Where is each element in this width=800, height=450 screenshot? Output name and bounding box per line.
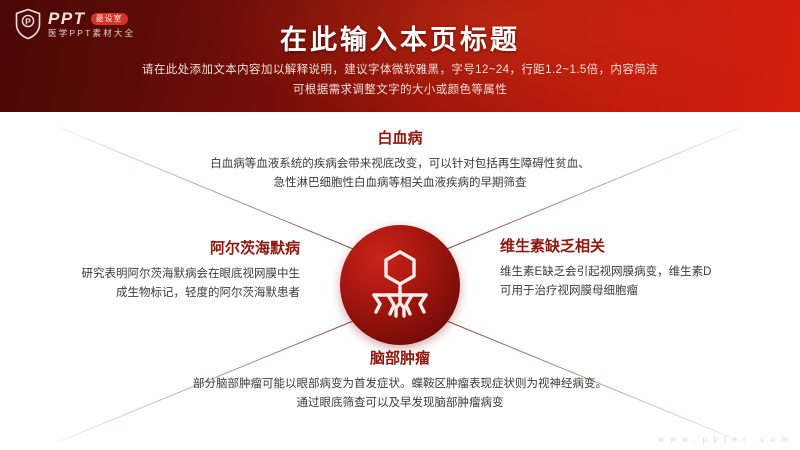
center-hub[interactable]	[340, 225, 460, 345]
node-right-body-line2: 可用于治疗视网膜母细胞瘤	[500, 282, 780, 301]
node-bottom-body-line1: 部分脑部肿瘤可能以眼部病变为首发症状。蝶鞍区肿瘤表现症状则为视神经病变。	[150, 375, 650, 394]
node-bottom-body-line2: 通过眼底筛查可以及早发现脑部肿瘤病变	[150, 394, 650, 413]
node-top-title: 白血病	[150, 130, 650, 148]
node-left-body-line1: 研究表明阿尔茨海默病会在眼底视网膜中生	[25, 265, 300, 284]
node-top-body-line1: 白血病等血液系统的疾病会带来视底改变，可以针对包括再生障碍性贫血、	[150, 155, 650, 174]
node-right[interactable]: 维生素缺乏相关 维生素E缺乏会引起视网膜病变，维生素D 可用于治疗视网膜母细胞瘤	[500, 238, 780, 300]
page-subtitle-line2: 可根据需求调整文字的大小或颜色等属性	[0, 81, 800, 97]
node-left-body-line2: 成生物标记，轻度的阿尔茨海默患者	[25, 284, 300, 303]
page-title: 在此输入本页标题	[0, 18, 800, 57]
watermark: w w w . p p t e r . c o m	[658, 435, 790, 444]
node-bottom-title: 脑部肿瘤	[150, 350, 650, 368]
node-top[interactable]: 白血病 白血病等血液系统的疾病会带来视底改变，可以针对包括再生障碍性贫血、 急性…	[150, 130, 650, 192]
node-left-title: 阿尔茨海默病	[25, 240, 300, 258]
page-subtitle-line1: 请在此处添加文本内容加以解释说明，建议字体微软雅黑，字号12~24，行距1.2~…	[0, 61, 800, 77]
bacteriophage-icon	[363, 246, 437, 324]
node-top-body-line2: 急性淋巴细胞性白血病等相关血液疾病的早期筛查	[150, 174, 650, 193]
node-bottom[interactable]: 脑部肿瘤 部分脑部肿瘤可能以眼部病变为首发症状。蝶鞍区肿瘤表现症状则为视神经病变…	[150, 350, 650, 412]
diagram-area: 白血病 白血病等血液系统的疾病会带来视底改变，可以针对包括再生障碍性贫血、 急性…	[0, 112, 800, 450]
slide-canvas: P PPT 最设室 医学PPT素材大全 在此输入本页标题 请在此处添加文本内容加…	[0, 0, 800, 450]
node-right-title: 维生素缺乏相关	[500, 238, 780, 256]
slide-header: P PPT 最设室 医学PPT素材大全 在此输入本页标题 请在此处添加文本内容加…	[0, 0, 800, 112]
node-left[interactable]: 阿尔茨海默病 研究表明阿尔茨海默病会在眼底视网膜中生 成生物标记，轻度的阿尔茨海…	[25, 240, 300, 302]
node-right-body-line1: 维生素E缺乏会引起视网膜病变，维生素D	[500, 263, 780, 282]
